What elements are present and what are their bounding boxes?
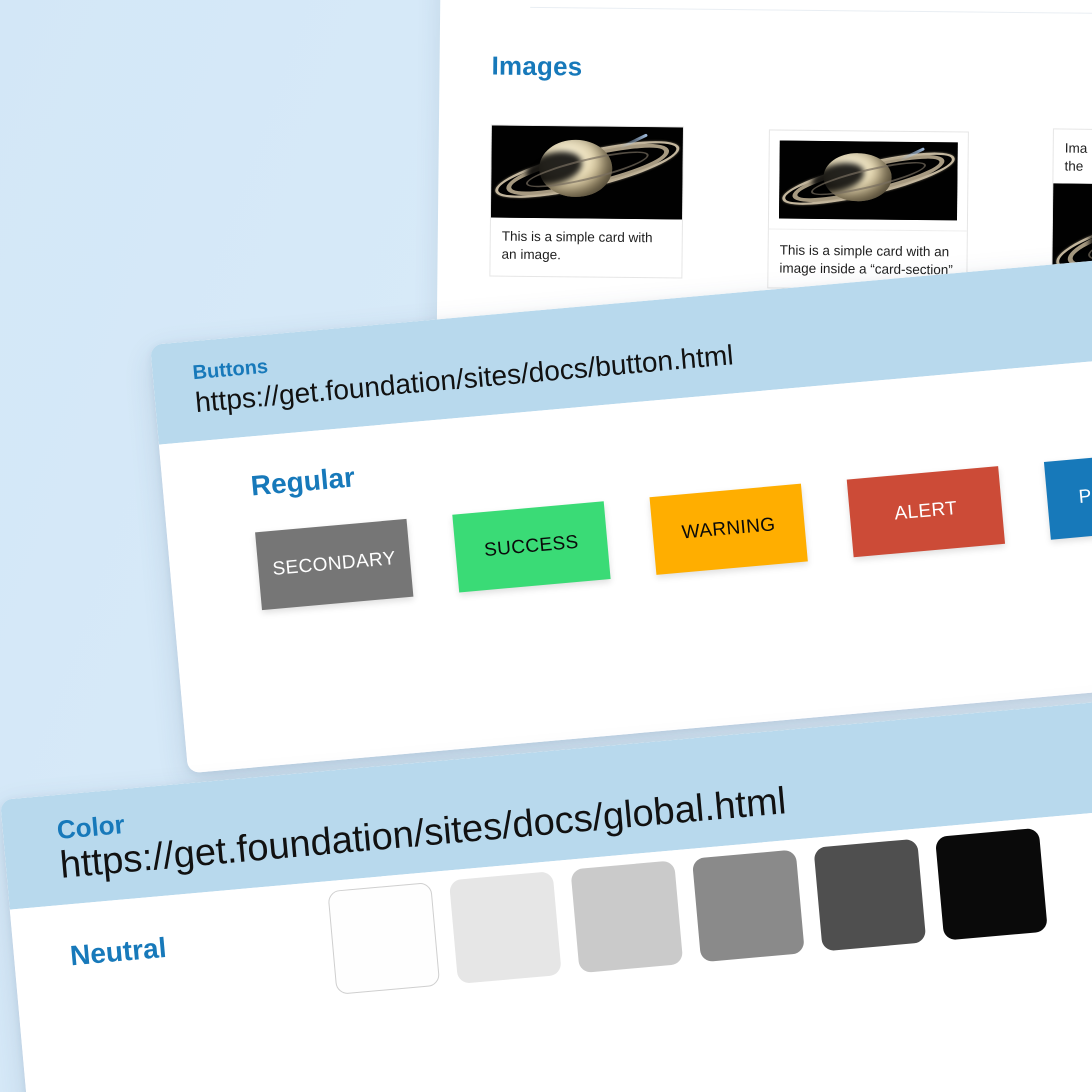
content-divider [530,7,1092,16]
swatch-light-gray [449,871,562,984]
saturn-image [491,126,683,220]
regular-heading: Regular [250,461,357,502]
swatch-dark-gray [692,849,805,962]
swatch-darker-gray [813,839,926,952]
panel-buttons: Buttons https://get.foundation/sites/doc… [150,255,1092,773]
card-simple-image[interactable]: This is a simple card with an image. [489,125,684,279]
card-image-in-section[interactable]: This is a simple card with an image insi… [767,129,969,290]
images-heading: Images [491,51,582,83]
card-caption-top: Imathe [1053,129,1092,185]
button-success[interactable]: SUCCESS [452,501,610,592]
swatch-medium-gray [570,860,683,973]
button-secondary[interactable]: SECONDARY [255,519,413,610]
button-alert[interactable]: ALERT [847,466,1005,557]
card-caption: This is a simple card with an image. [490,218,682,278]
panel-color: Color https://get.foundation/sites/docs/… [0,699,1092,1092]
button-warning[interactable]: WARNING [650,484,808,575]
button-row: SECONDARYSUCCESSWARNINGALERTPRIMARY [255,448,1092,610]
neutral-heading: Neutral [69,932,168,972]
swatch-black [935,828,1048,941]
button-primary[interactable]: PRIMARY [1044,448,1092,539]
saturn-image [779,141,958,221]
card-section [769,130,968,230]
screenshot-stage: Images This is a simple card with an ima… [0,0,1092,1092]
swatch-white [327,882,440,995]
